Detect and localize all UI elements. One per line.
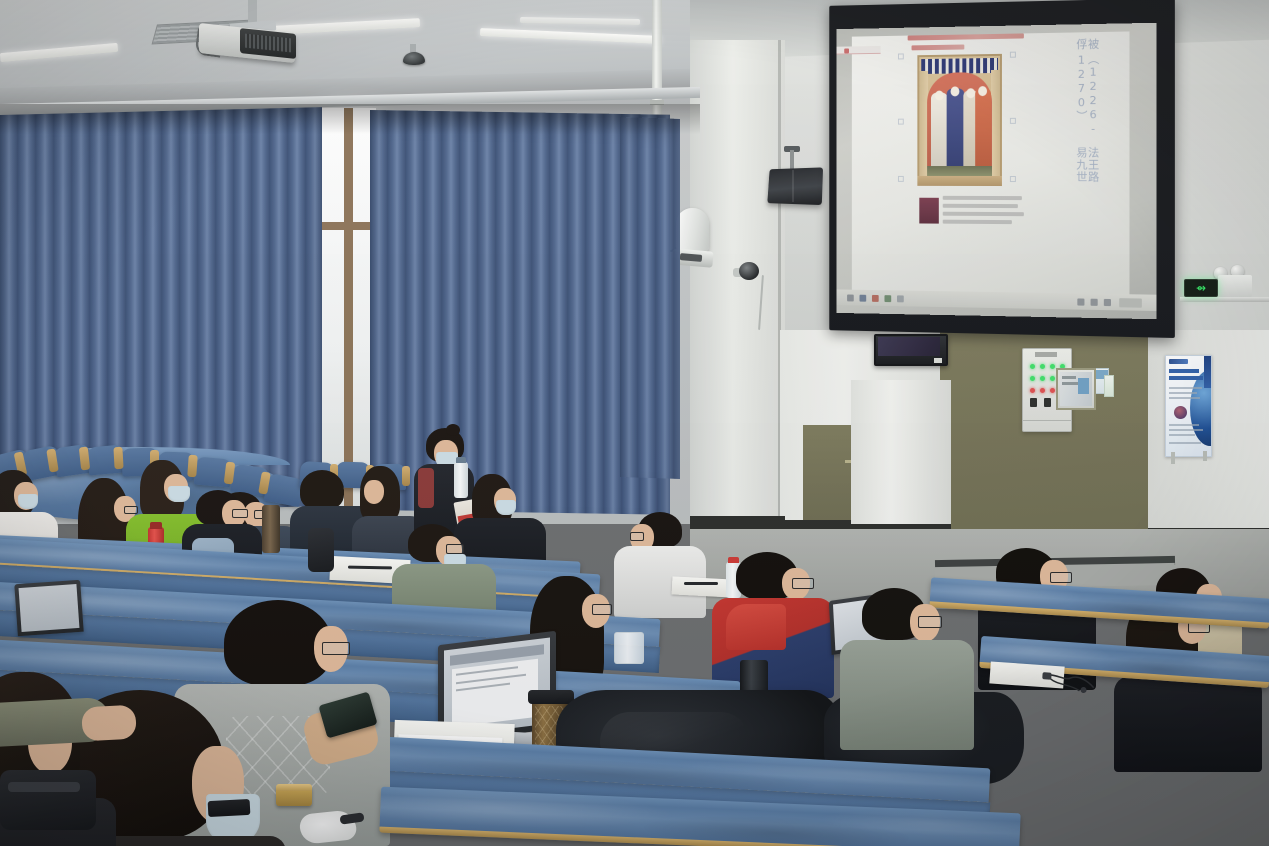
panel-door-seam <box>1022 420 1072 421</box>
taskbar-explorer-icon[interactable] <box>859 295 866 302</box>
framed-notice-text <box>1062 376 1076 379</box>
glasses <box>446 544 464 554</box>
taskbar-start-icon[interactable] <box>847 294 854 301</box>
exit-running-man-icon: ⇴ <box>1196 282 1206 294</box>
notebook <box>672 576 735 597</box>
slide-selection-handle[interactable] <box>898 119 904 125</box>
manuscript-caption-line <box>943 204 1018 208</box>
smartphone[interactable] <box>208 799 251 817</box>
thermos <box>262 505 280 553</box>
wall-pillar <box>690 40 785 540</box>
glasses <box>322 642 350 655</box>
manuscript-figure <box>931 92 948 175</box>
lecture-hall-photo: 法王路易九世 （1226-1270） 被俘 ⇴ <box>0 0 1269 846</box>
glasses <box>630 532 644 541</box>
panel-led-green <box>1040 364 1045 369</box>
manuscript-caption-line <box>943 220 1012 224</box>
panel-led-green <box>1040 376 1045 381</box>
poster-text-line <box>1169 392 1197 394</box>
glasses <box>592 604 612 615</box>
slide-header-bar <box>837 46 881 55</box>
panel-led-green <box>1050 364 1055 369</box>
poster-sidebar <box>1204 356 1212 388</box>
collar-accent <box>418 468 434 508</box>
conference-poster <box>1165 355 1212 457</box>
face-mask <box>18 494 38 509</box>
panel-switch[interactable] <box>1030 398 1037 407</box>
manuscript-figure-head <box>951 86 960 96</box>
earphones <box>1039 670 1098 696</box>
bottle-cap <box>456 457 466 463</box>
taskbar-tray-icon[interactable] <box>1104 299 1111 306</box>
wall-notice-small <box>1104 375 1114 397</box>
poster-title-line <box>1169 369 1199 373</box>
poster-title-line <box>1169 376 1203 380</box>
manuscript-initial-letter <box>919 198 939 224</box>
baseboard <box>690 516 785 529</box>
manuscript-caption-line <box>943 212 1024 216</box>
framed-notice-graphic <box>1078 378 1089 394</box>
glasses <box>1050 572 1072 583</box>
taskbar-tray-icon[interactable] <box>1077 298 1084 305</box>
slide-selection-handle[interactable] <box>898 176 904 182</box>
speaker-seam <box>792 170 794 202</box>
glasses <box>918 616 942 628</box>
curtain-top-shadow <box>0 104 700 134</box>
glasses <box>792 578 814 589</box>
glasses <box>232 509 248 518</box>
mug-lid <box>528 690 574 704</box>
exit-sign: ⇴ <box>1184 279 1218 297</box>
manuscript-figure-head <box>966 88 975 98</box>
wall-rail <box>1180 297 1269 302</box>
poster-text-line <box>1169 397 1200 399</box>
slide-selection-handle[interactable] <box>1010 176 1016 182</box>
panel-led-red <box>1030 388 1035 393</box>
wall-dome-camera-icon <box>739 262 759 280</box>
poster-text-line <box>1169 424 1199 426</box>
poster-clip <box>1203 451 1207 461</box>
clear-tumbler <box>614 632 644 664</box>
panel-led-green <box>1030 364 1035 369</box>
taskbar-app-icon[interactable] <box>872 295 879 302</box>
emergency-light-unit <box>1218 275 1252 297</box>
panel-led-red <box>1050 388 1055 393</box>
manuscript-column-right <box>991 70 1000 178</box>
hand <box>81 705 137 742</box>
water-bottle <box>454 462 468 498</box>
wall-pillar <box>851 380 951 545</box>
poster-portrait <box>1174 406 1187 419</box>
poster-text-line <box>1169 442 1201 444</box>
poster-clip <box>1171 452 1175 464</box>
glasses <box>124 506 138 514</box>
window-mullion-horizontal <box>318 222 376 230</box>
bottle-cap <box>150 522 162 529</box>
manuscript-figure <box>947 88 965 176</box>
manuscript-caption-line <box>943 196 1022 200</box>
slide-caption-line-1: 法王路易九世 <box>1028 146 1099 190</box>
lecture-camera <box>676 208 709 252</box>
manuscript-figure-head <box>935 91 944 101</box>
slide-caption-line-2: （1226-1270） <box>1028 54 1099 146</box>
face-mask <box>168 486 190 502</box>
slide-selection-handle[interactable] <box>898 53 904 59</box>
gold-tin-lid <box>276 784 312 791</box>
face-mask <box>496 500 516 515</box>
panel-led-red <box>1040 388 1045 393</box>
taskbar-app-icon[interactable] <box>884 295 891 302</box>
auxiliary-monitor-led <box>934 358 942 363</box>
manuscript-base-border <box>917 176 1002 186</box>
slide-header-dot <box>844 48 849 53</box>
pen <box>684 582 718 585</box>
manuscript-ground <box>927 166 992 176</box>
laptop-screen <box>19 584 80 632</box>
backpack-strap <box>8 782 80 792</box>
panel-led-green <box>1050 376 1055 381</box>
poster-text-line <box>1169 429 1203 431</box>
backpack <box>0 770 96 830</box>
poster-text-line <box>1169 387 1202 389</box>
panel-switch[interactable] <box>1044 398 1051 407</box>
bottle-cap <box>728 557 739 563</box>
curtain-far-right[interactable] <box>620 117 680 479</box>
seat-armrest <box>113 447 123 469</box>
panel-label <box>1035 352 1057 357</box>
window-mullion-vertical <box>344 108 353 508</box>
seat-armrest <box>187 455 198 478</box>
poster-logo <box>1169 359 1188 364</box>
earphones-icon <box>1039 670 1098 696</box>
manuscript-figure-head <box>978 86 987 96</box>
manuscript-figure <box>975 88 991 176</box>
slide-chinese-caption: 法王路易九世 （1226-1270） 被俘 <box>1028 38 1099 190</box>
panel-led-green <box>1030 376 1035 381</box>
taskbar-tray-icon[interactable] <box>1091 299 1098 306</box>
hair-bun <box>446 424 460 436</box>
slide-heading-line <box>912 44 965 50</box>
slide-selection-handle[interactable] <box>1010 52 1016 58</box>
slide-caption-line-3: 被俘 <box>1028 38 1099 54</box>
taskbar-app-icon[interactable] <box>897 295 904 302</box>
auxiliary-monitor-screen <box>878 337 940 356</box>
projection-screen: 法王路易九世 （1226-1270） 被俘 <box>837 23 1157 319</box>
jacket-hood <box>726 604 786 650</box>
ceiling-dome-camera-icon <box>403 52 425 65</box>
taskbar-clock[interactable] <box>1119 298 1142 308</box>
slide-selection-handle[interactable] <box>1010 118 1016 124</box>
wall-speaker <box>767 167 823 205</box>
poster-text-line <box>1169 434 1195 436</box>
seat-armrest <box>402 466 410 486</box>
backpack <box>308 528 334 572</box>
